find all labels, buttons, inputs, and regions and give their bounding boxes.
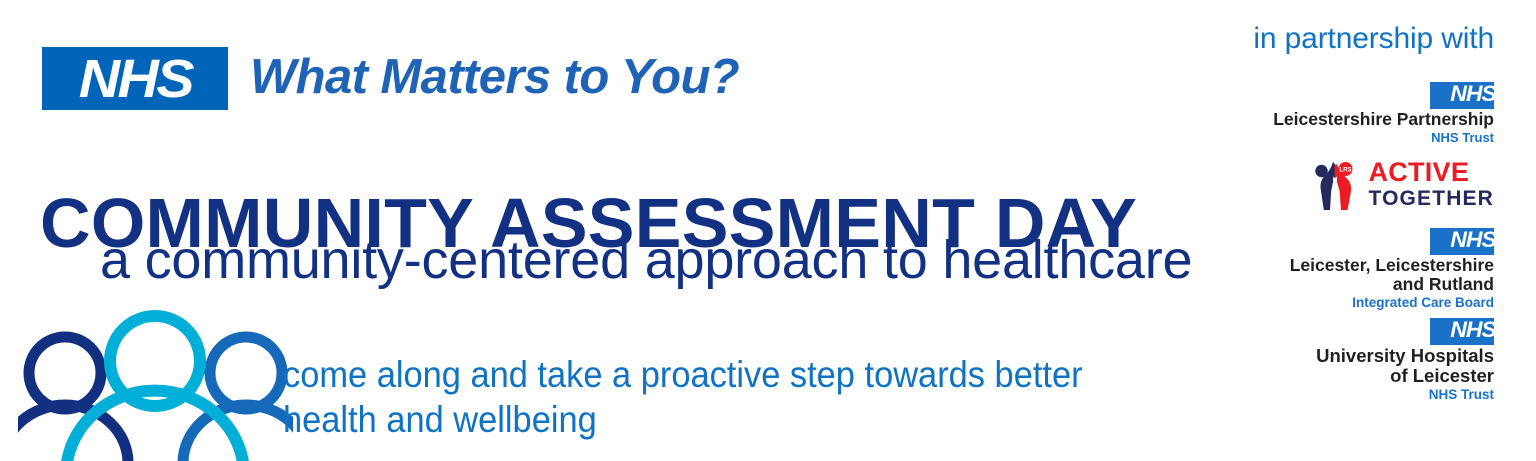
partner-subtitle: NHS Trust	[1273, 131, 1494, 145]
strapline: What Matters to You?	[250, 49, 739, 107]
partner-logo-active-together: LRS ACTIVE TOGETHER	[1311, 158, 1494, 210]
nhs-logo-text: NHS	[78, 52, 191, 106]
active-together-wordmark: ACTIVE TOGETHER	[1368, 159, 1494, 209]
together-word: TOGETHER	[1368, 188, 1494, 209]
partner-name: Leicester, Leicestershire and Rutland	[1290, 256, 1494, 294]
nhs-mark-icon: NHS	[1430, 228, 1494, 255]
lrs-badge-text: LRS	[1340, 167, 1352, 174]
nhs-mark-icon: NHS	[1430, 318, 1494, 345]
nhs-logo: NHS	[42, 47, 228, 110]
partner-name: University Hospitals of Leicester	[1316, 346, 1494, 386]
navy-figure	[1316, 162, 1336, 210]
people-outline-svg	[18, 305, 293, 461]
in-partnership-with-label: in partnership with	[1253, 22, 1494, 56]
active-together-figures-icon: LRS	[1311, 158, 1361, 210]
nhs-mark-text: NHS	[1428, 229, 1495, 251]
active-together-mark-svg: LRS	[1311, 158, 1361, 210]
active-word: ACTIVE	[1368, 159, 1494, 186]
partner-logo-llr-icb: NHS Leicester, Leicestershire and Rutlan…	[1290, 228, 1494, 311]
partner-logo-leicestershire-partnership: NHS Leicestershire Partnership NHS Trust	[1273, 82, 1494, 145]
nhs-mark-text: NHS	[1428, 319, 1495, 341]
community-assessment-day-banner: NHS What Matters to You? COMMUNITY ASSES…	[0, 0, 1536, 461]
nhs-mark-icon: NHS	[1430, 82, 1494, 109]
nhs-mark-text: NHS	[1428, 83, 1495, 105]
subtitle: a community-centered approach to healthc…	[100, 230, 1192, 290]
partner-name: Leicestershire Partnership	[1273, 110, 1494, 129]
partner-logos-column: in partnership with NHS Leicestershire P…	[1248, 0, 1498, 461]
body-copy: come along and take a proactive step tow…	[283, 352, 1101, 442]
partner-subtitle: Integrated Care Board	[1290, 296, 1494, 311]
three-people-icon	[18, 305, 293, 461]
partner-subtitle: NHS Trust	[1316, 388, 1494, 403]
partner-logo-uhl: NHS University Hospitals of Leicester NH…	[1316, 318, 1494, 403]
